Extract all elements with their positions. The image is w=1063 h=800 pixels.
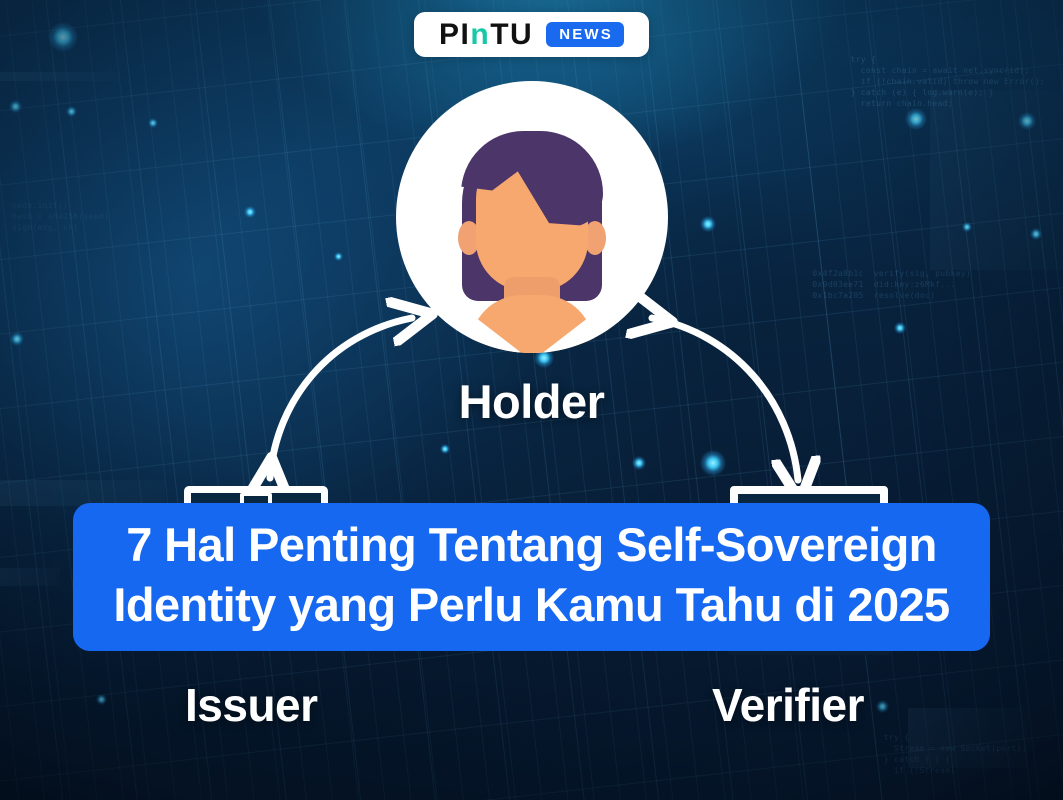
pintu-news-logo[interactable]: PInTU NEWS <box>414 12 649 57</box>
verifier-label: Verifier <box>712 682 864 728</box>
holder-node <box>396 81 668 353</box>
logo-text-part1: PI <box>439 20 470 50</box>
person-avatar-icon <box>396 81 668 353</box>
logo-text-accent: n <box>470 20 490 50</box>
pintu-wordmark: PInTU <box>439 20 533 50</box>
holder-label: Holder <box>0 378 1063 425</box>
headline-banner: 7 Hal Penting Tentang Self-Sovereign Ide… <box>73 503 990 651</box>
headline-line-1: 7 Hal Penting Tentang Self-Sovereign <box>99 515 964 575</box>
logo-text-part2: TU <box>490 20 533 50</box>
poster-canvas: try { const chain = await net.sync(id); … <box>0 0 1063 800</box>
news-badge: NEWS <box>546 22 624 47</box>
headline-line-2: Identity yang Perlu Kamu Tahu di 2025 <box>99 575 964 635</box>
issuer-label: Issuer <box>185 682 318 728</box>
